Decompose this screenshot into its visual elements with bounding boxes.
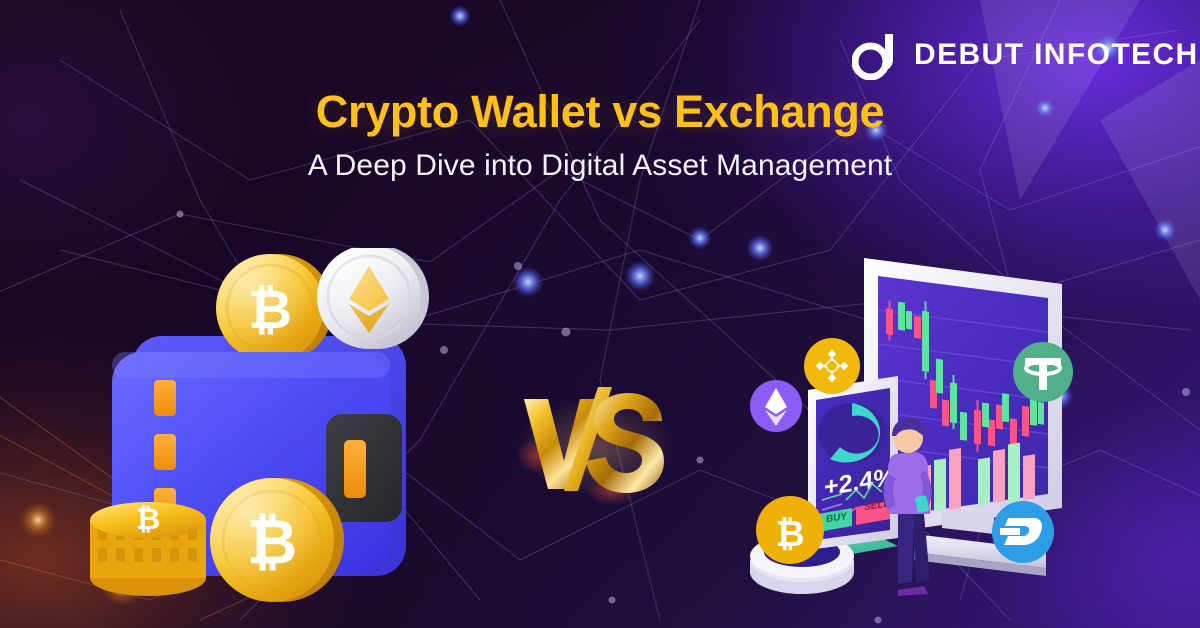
svg-text:₿: ₿ — [247, 505, 298, 578]
ethereum-coin-top — [317, 248, 429, 349]
headings-block: Crypto Wallet vs Exchange A Deep Dive in… — [0, 88, 1200, 183]
svg-text:₿: ₿ — [136, 502, 160, 537]
bitcoin-coin-top: ₿ — [216, 254, 333, 362]
dash-coin-badge — [992, 501, 1054, 563]
wallet-card-tab — [154, 380, 176, 416]
svg-text:₿: ₿ — [248, 278, 292, 341]
brand-name: DEBUT INFOTECH — [914, 38, 1199, 72]
wallet-card-tab — [154, 434, 176, 470]
crypto-wallet-3d: ₿ — [86, 248, 436, 606]
banner-root: DEBUT INFOTECH Crypto Wallet vs Exchange… — [0, 0, 1200, 628]
donut-chart — [818, 403, 886, 463]
svg-text:₿: ₿ — [775, 514, 804, 555]
ethereum-coin-badge — [750, 380, 802, 432]
brand-logo[interactable]: DEBUT INFOTECH — [852, 30, 1199, 80]
bitcoin-coin-stack: ₿ — [90, 502, 206, 596]
bitcoin-coin-badge: ₿ — [756, 496, 824, 564]
debut-d-logo-icon — [852, 30, 900, 80]
crypto-exchange-trading-3d: +2.4% BUY SELL — [746, 238, 1086, 598]
wallet-clasp — [344, 440, 366, 498]
binance-coin-badge — [804, 338, 860, 394]
bitcoin-coin-front: ₿ — [210, 478, 344, 602]
tether-coin-badge — [1013, 342, 1073, 402]
vs-graphic — [516, 385, 676, 505]
page-subtitle: A Deep Dive into Digital Asset Managemen… — [0, 149, 1200, 183]
page-title: Crypto Wallet vs Exchange — [0, 88, 1200, 135]
